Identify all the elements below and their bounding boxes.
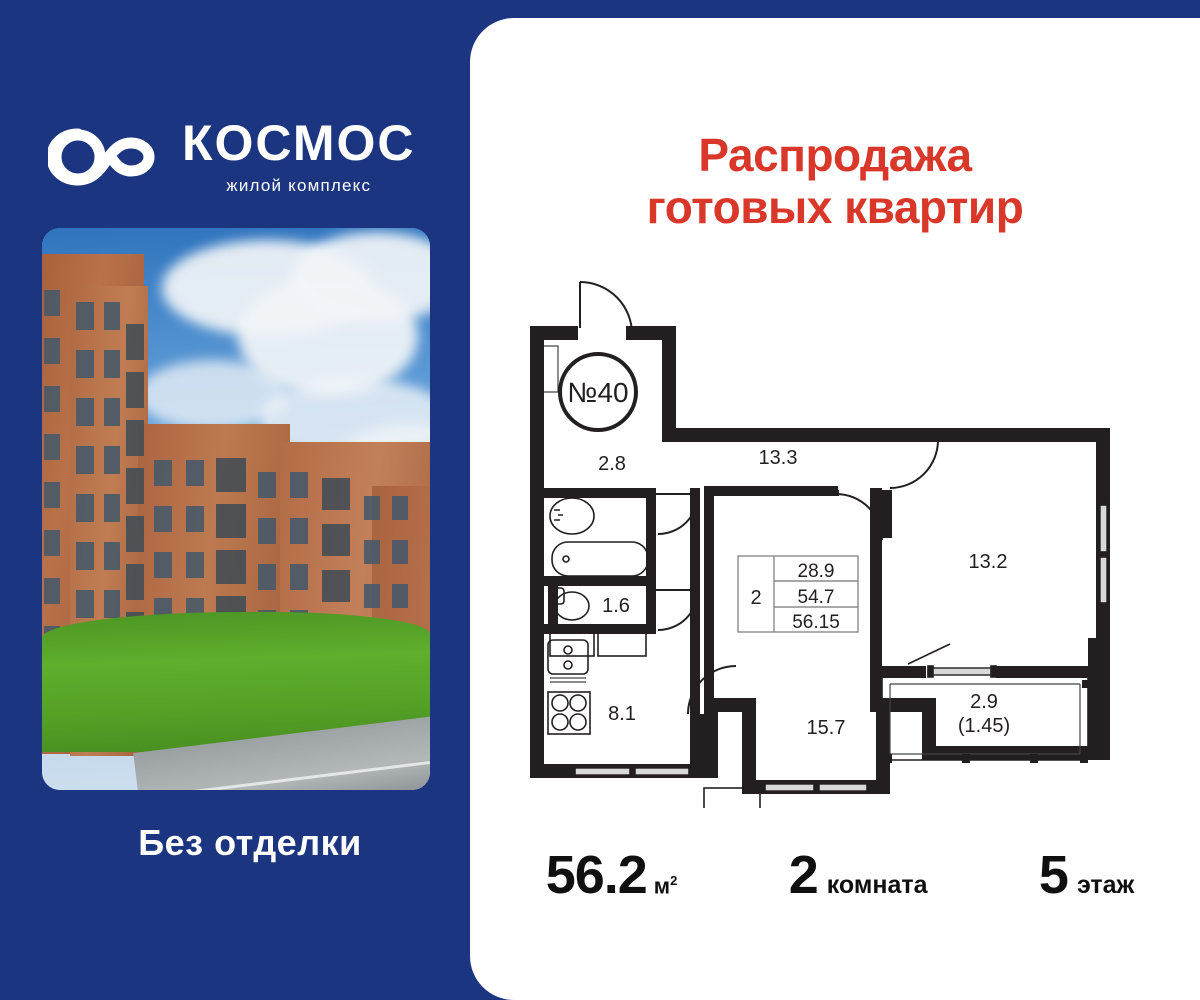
brand-panel: КОСМОС жилой комплекс	[0, 0, 500, 1000]
svg-text:13.3: 13.3	[759, 447, 798, 469]
area-stamp: 2 28.9 54.7 56.15	[738, 556, 858, 633]
svg-text:(1.45): (1.45)	[958, 715, 1010, 737]
summary-floor-value: 5	[1039, 844, 1068, 906]
svg-text:15.7: 15.7	[807, 717, 846, 739]
summary-rooms: 2 комната	[789, 844, 928, 906]
infinity-icon	[48, 126, 164, 188]
summary-area-unit: м2	[654, 873, 678, 899]
brand-tagline: жилой комплекс	[182, 176, 416, 196]
offer-card: Распродажа готовых квартир .wall { fill:…	[470, 18, 1200, 1000]
floor-plan: .wall { fill: #231f20; } .thin { fill: n…	[510, 268, 1170, 808]
headline-line-1: Распродажа	[470, 130, 1200, 182]
svg-text:13.2: 13.2	[969, 551, 1008, 573]
svg-text:2: 2	[750, 587, 761, 609]
apartment-number-badge: №40	[560, 354, 636, 430]
summary-area: 56.2 м2	[546, 844, 678, 906]
listing-banner: КОСМОС жилой комплекс	[0, 0, 1200, 1000]
summary-area-value: 56.2	[546, 844, 647, 906]
headline-line-2: готовых квартир	[470, 182, 1200, 234]
svg-text:1.6: 1.6	[602, 595, 630, 617]
svg-text:2.9: 2.9	[970, 691, 998, 713]
svg-text:56.15: 56.15	[792, 612, 840, 633]
finish-type-label: Без отделки	[0, 822, 500, 864]
svg-text:54.7: 54.7	[798, 587, 835, 608]
floor-plan-drawing: .wall { fill: #231f20; } .thin { fill: n…	[510, 268, 1170, 808]
summary-rooms-value: 2	[789, 844, 818, 906]
residential-complex-photo	[42, 228, 430, 790]
summary-bar: 56.2 м2 2 комната 5 этаж	[490, 830, 1190, 920]
summary-floor-word: этаж	[1077, 871, 1134, 900]
summary-rooms-word: комната	[827, 871, 928, 900]
brand-logo: КОСМОС жилой комплекс	[48, 118, 416, 196]
svg-text:№40: №40	[567, 377, 628, 408]
svg-text:28.9: 28.9	[798, 561, 835, 582]
summary-floor: 5 этаж	[1039, 844, 1134, 906]
headline: Распродажа готовых квартир	[470, 130, 1200, 234]
svg-text:2.8: 2.8	[598, 453, 626, 475]
svg-text:8.1: 8.1	[608, 703, 636, 725]
brand-name: КОСМОС	[182, 118, 416, 168]
